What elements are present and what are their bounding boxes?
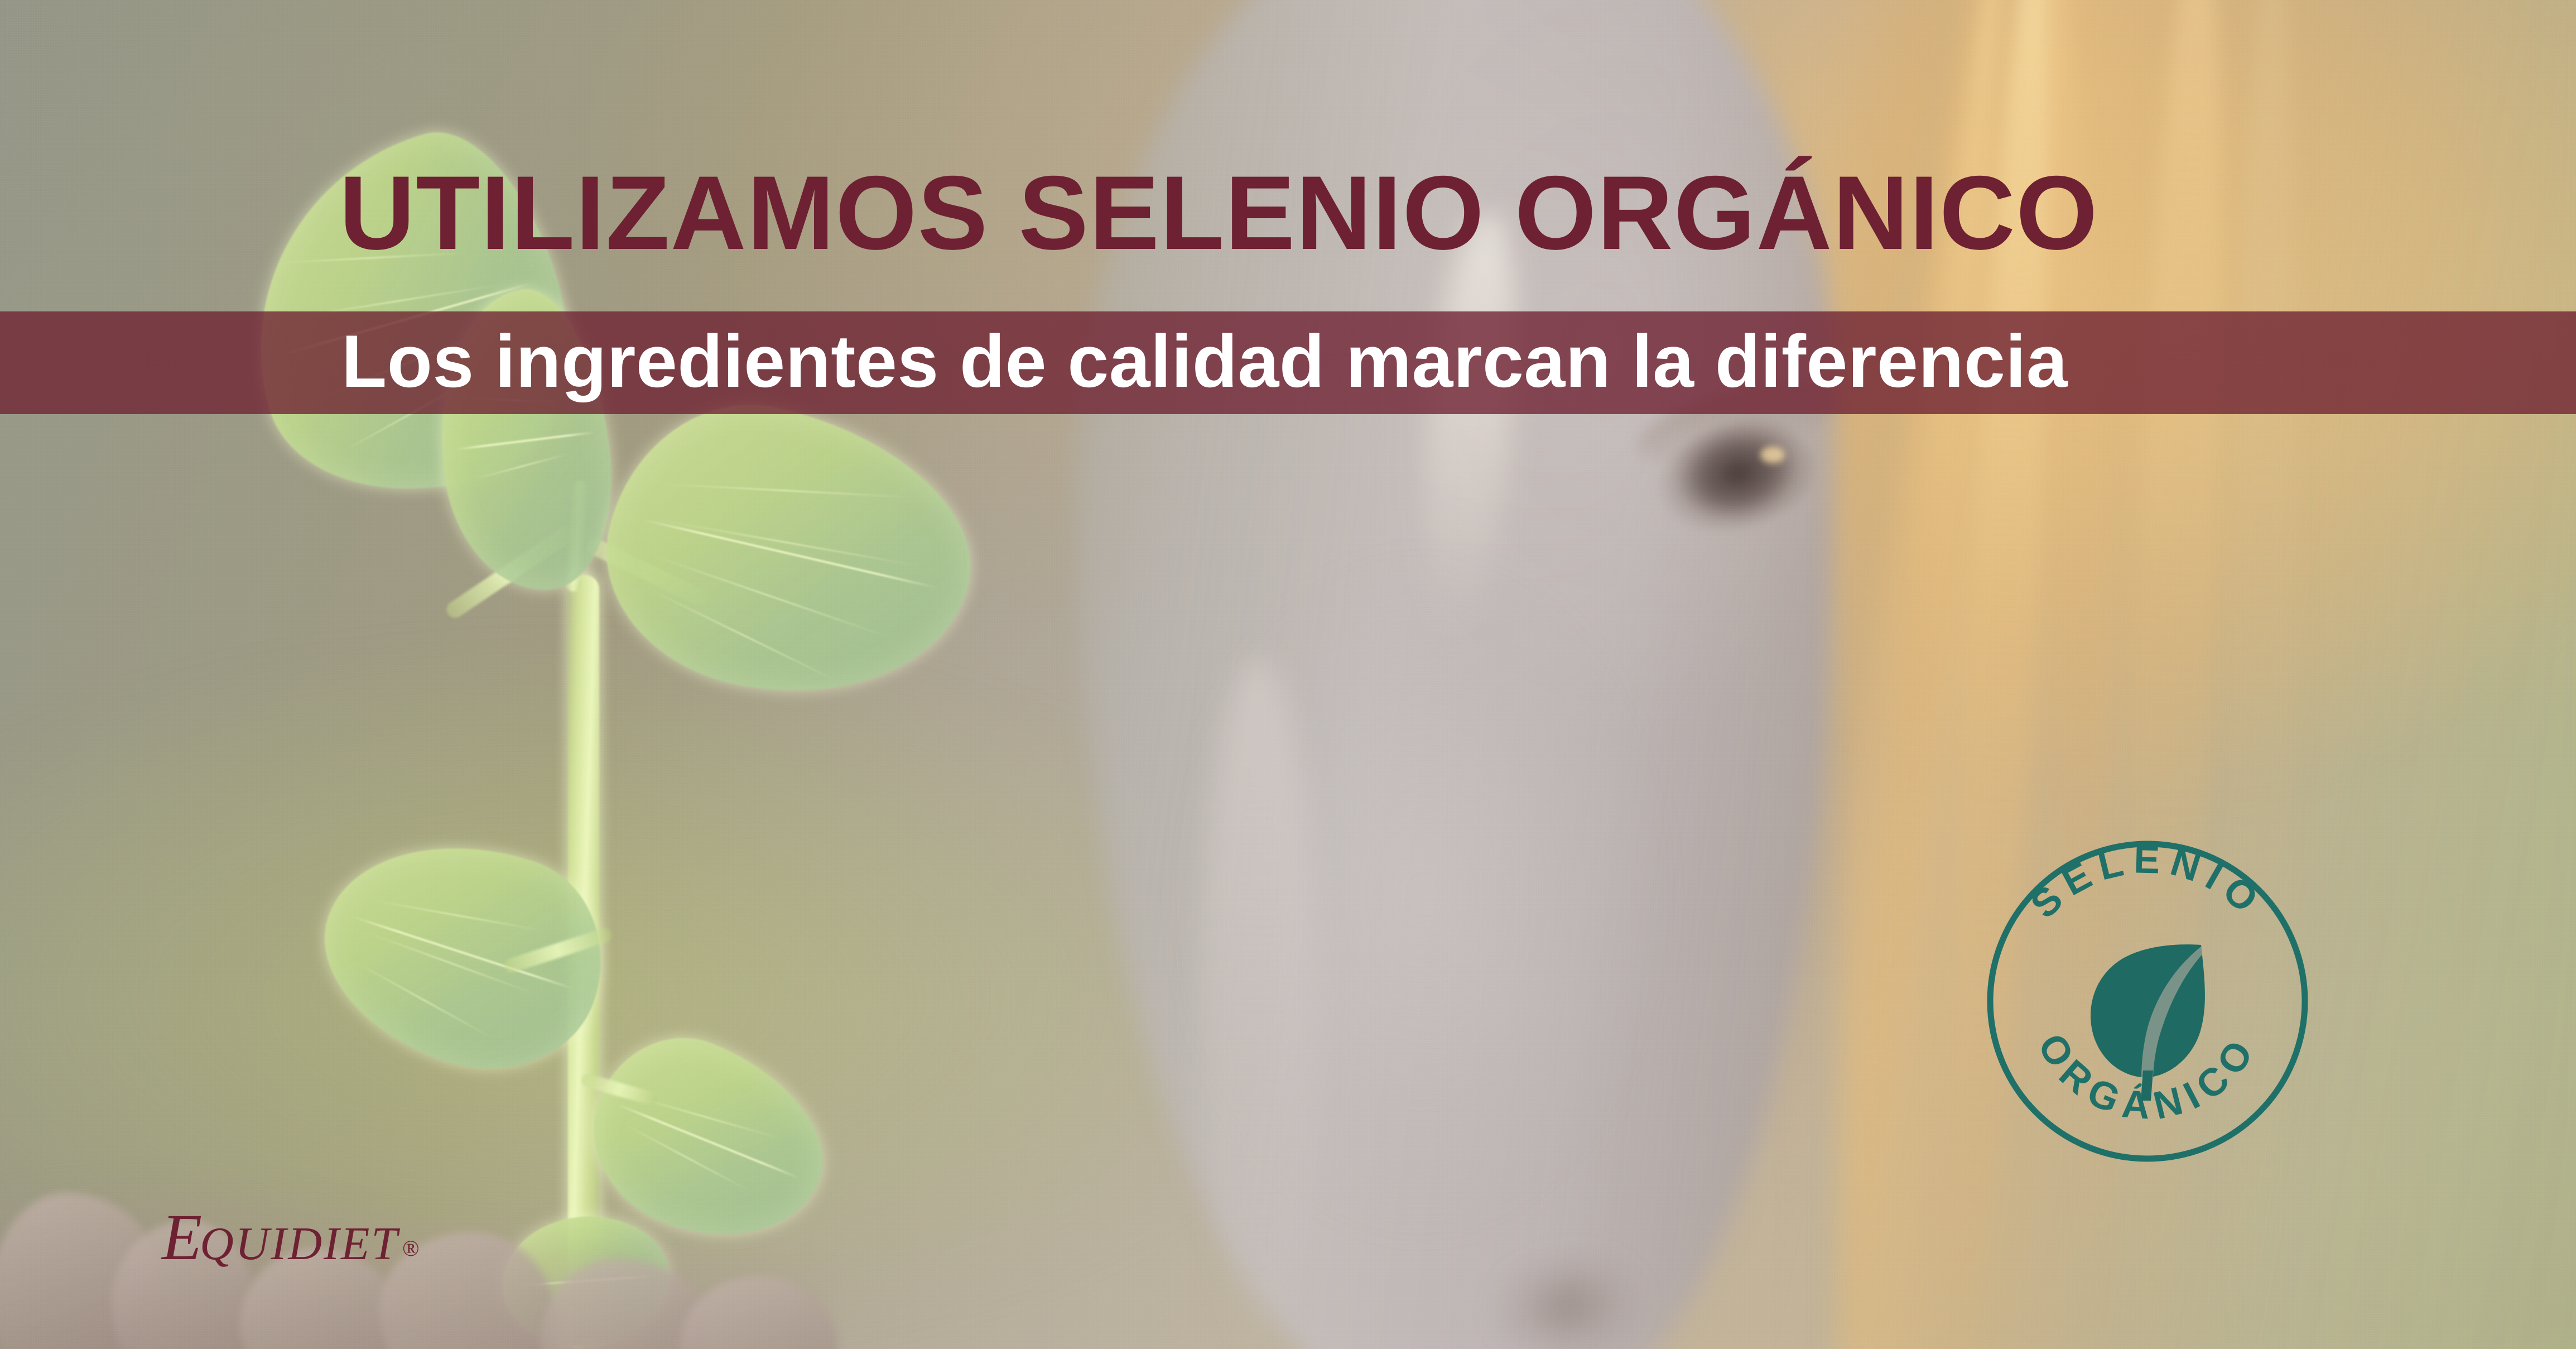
logo-initial: E (162, 1201, 202, 1274)
subtitle: Los ingredientes de calidad marcan la di… (341, 325, 2068, 399)
headline: UTILIZAMOS SELENIO ORGÁNICO (339, 160, 2098, 265)
leaf-upper-right (581, 377, 998, 730)
promotional-banner: UTILIZAMOS SELENIO ORGÁNICO Los ingredie… (0, 0, 2576, 1349)
selenio-organico-seal: SELENIO ORGÁNICO (1982, 836, 2313, 1166)
logo-wordmark: QUIDIET (200, 1218, 399, 1270)
registered-trademark-icon: ® (402, 1236, 419, 1261)
equidiet-logo: EQUIDIET® (162, 1204, 419, 1270)
seal-top-text: SELENIO (2022, 837, 2272, 926)
